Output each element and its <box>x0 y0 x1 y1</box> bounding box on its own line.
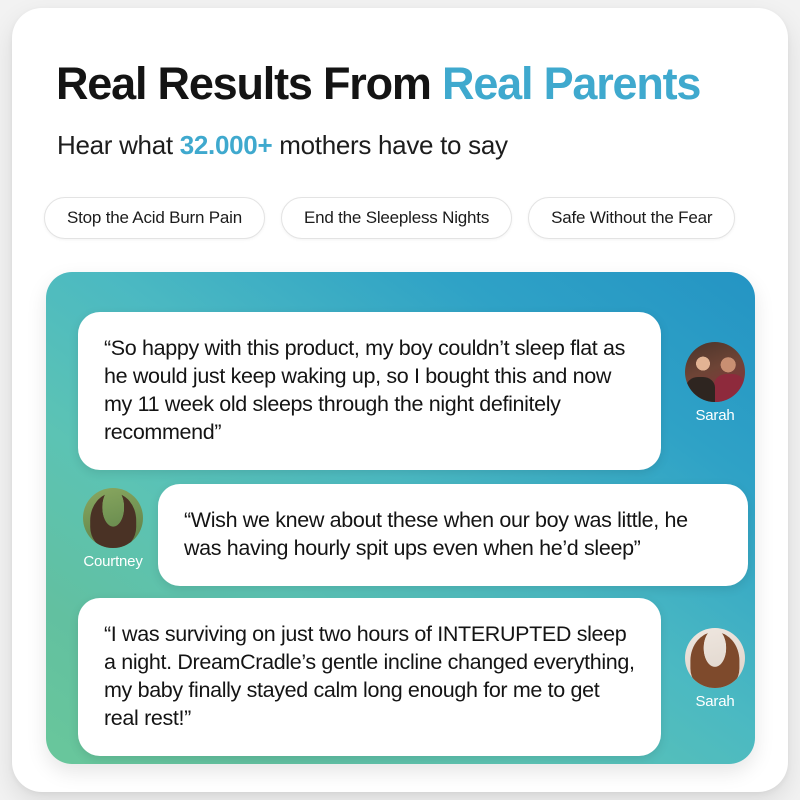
avatar-image <box>685 628 745 688</box>
author-name: Sarah <box>695 693 734 710</box>
woman-outdoor-portrait-avatar <box>83 488 143 548</box>
page-subtitle: Hear what 32.000+ mothers have to say <box>57 130 508 161</box>
topic-filter-tabs: Stop the Acid Burn Pain End the Sleeples… <box>44 197 735 239</box>
testimonial-quote: “So happy with this product, my boy coul… <box>104 334 635 446</box>
couple-portrait-avatar <box>685 342 745 402</box>
testimonial-bubble-2: “Wish we knew about these when our boy w… <box>158 484 748 586</box>
subtitle-prefix: Hear what <box>57 130 180 160</box>
avatar-image <box>685 342 745 402</box>
testimonial-author-2: Courtney <box>70 488 156 570</box>
author-name: Courtney <box>83 553 142 570</box>
testimonial-quote: “I was surviving on just two hours of IN… <box>104 620 635 732</box>
subtitle-count: 32.000+ <box>180 130 273 160</box>
subtitle-suffix: mothers have to say <box>272 130 507 160</box>
testimonials-panel: “So happy with this product, my boy coul… <box>46 272 755 764</box>
author-name: Sarah <box>695 407 734 424</box>
woman-auburn-portrait-avatar <box>685 628 745 688</box>
testimonial-bubble-1: “So happy with this product, my boy coul… <box>78 312 661 470</box>
testimonial-author-1: Sarah <box>672 342 755 424</box>
page-title-plain: Real Results From <box>56 58 442 109</box>
testimonials-card: Real Results From Real Parents Hear what… <box>12 8 788 792</box>
tab-stop-the-acid-burn-pain[interactable]: Stop the Acid Burn Pain <box>44 197 265 239</box>
testimonial-quote: “Wish we knew about these when our boy w… <box>184 506 722 562</box>
page-title: Real Results From Real Parents <box>56 58 700 110</box>
tab-end-the-sleepless-nights[interactable]: End the Sleepless Nights <box>281 197 512 239</box>
testimonial-author-3: Sarah <box>672 628 755 710</box>
page-title-accent: Real Parents <box>442 58 700 109</box>
tab-label: Safe Without the Fear <box>551 208 712 228</box>
tab-safe-without-the-fear[interactable]: Safe Without the Fear <box>528 197 735 239</box>
avatar-image <box>83 488 143 548</box>
tab-label: Stop the Acid Burn Pain <box>67 208 242 228</box>
testimonial-bubble-3: “I was surviving on just two hours of IN… <box>78 598 661 756</box>
tab-label: End the Sleepless Nights <box>304 208 489 228</box>
